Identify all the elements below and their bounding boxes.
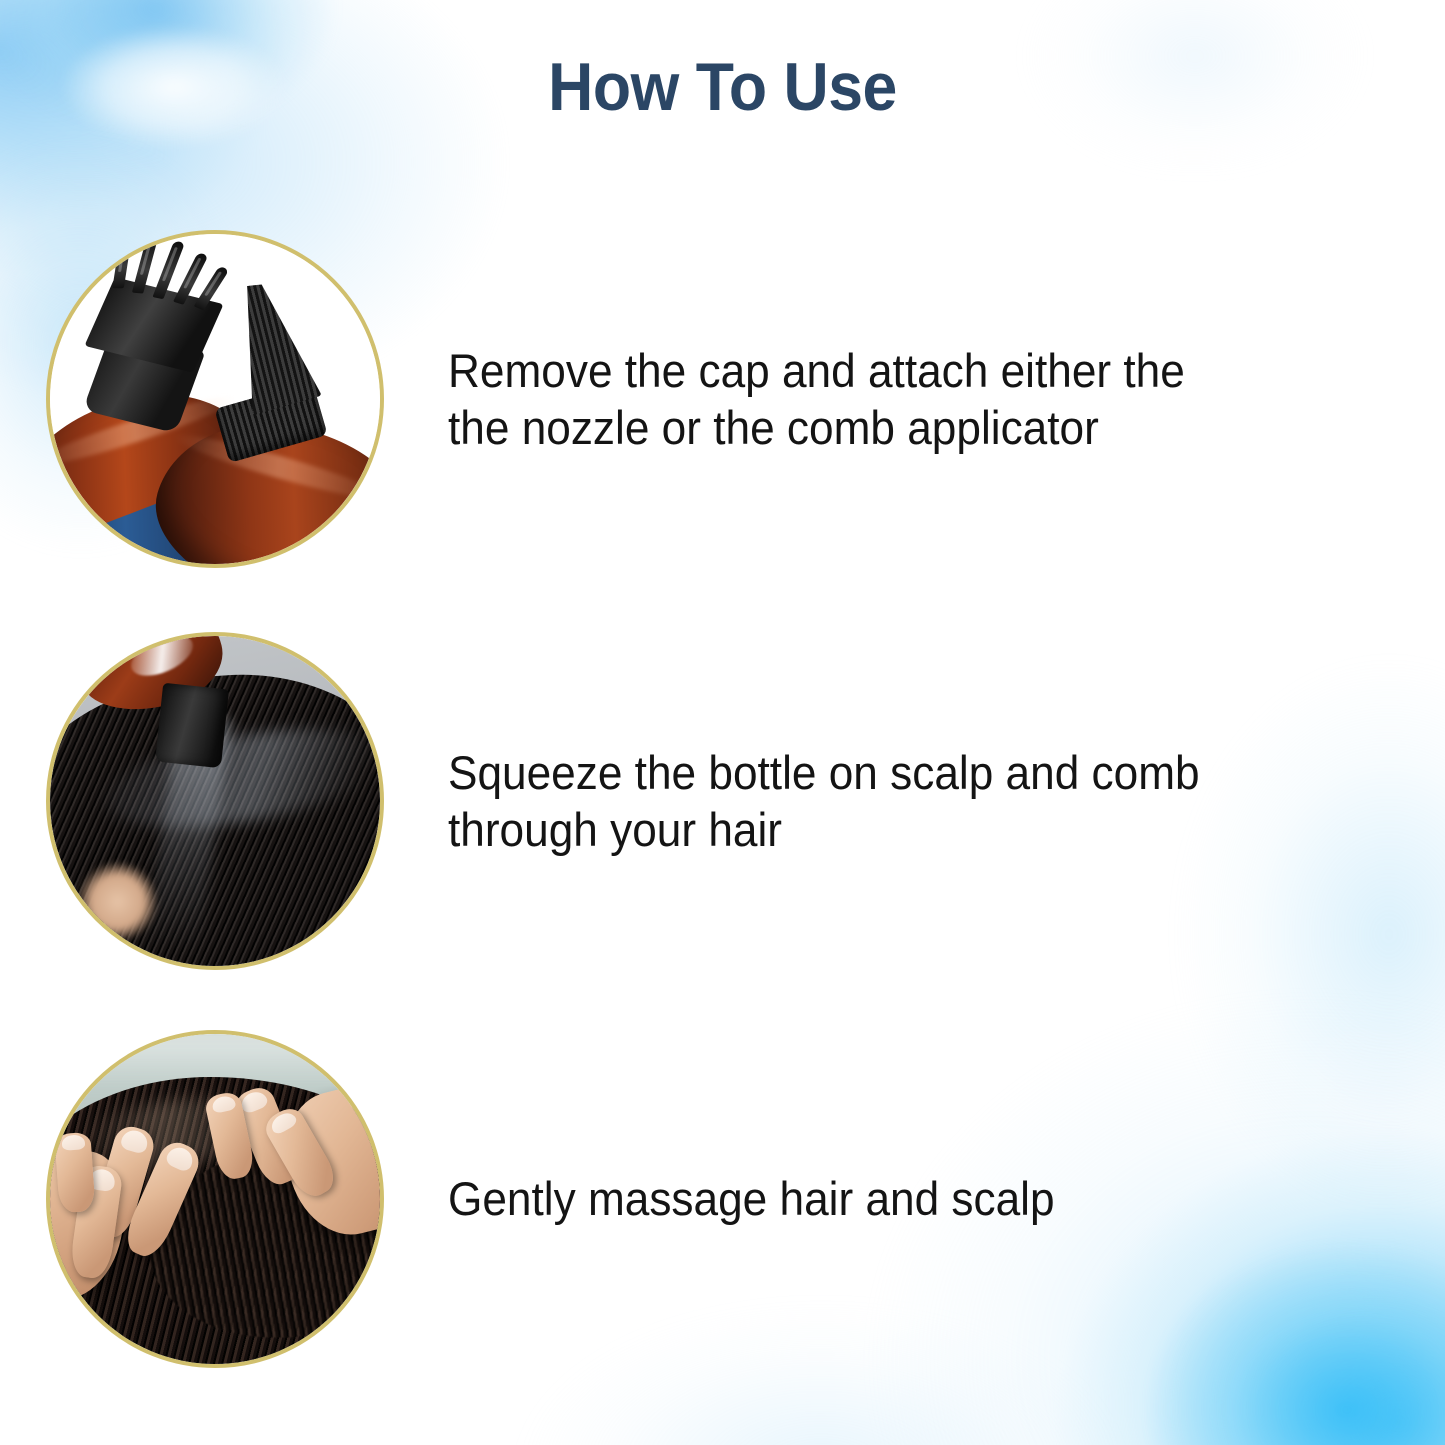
step-1-instruction: Remove the cap and attach either the the… bbox=[448, 342, 1301, 457]
fingernail bbox=[61, 1135, 86, 1151]
step-1-image-circle bbox=[46, 230, 384, 568]
fingernail bbox=[210, 1094, 237, 1114]
fingernail bbox=[239, 1088, 270, 1114]
page-title: How To Use bbox=[58, 48, 1387, 126]
step-item-3: Gently massage hair and scalp bbox=[0, 1030, 1445, 1368]
nozzle-applicator-tip bbox=[155, 682, 229, 768]
step-2-image-circle bbox=[46, 632, 384, 970]
step-item-1: Remove the cap and attach either the the… bbox=[0, 230, 1445, 568]
step-1-text-column: Remove the cap and attach either the the… bbox=[430, 342, 1445, 457]
step-item-2: Squeeze the bottle on scalp and comb thr… bbox=[0, 632, 1445, 970]
step-3-media bbox=[0, 1030, 430, 1368]
massaging-scalp-photo bbox=[50, 1034, 380, 1364]
applying-oil-to-scalp-photo bbox=[50, 636, 380, 966]
comb-and-nozzle-applicators-photo bbox=[50, 234, 380, 564]
step-2-media bbox=[0, 632, 430, 970]
forehead-skin bbox=[70, 860, 169, 959]
step-2-instruction: Squeeze the bottle on scalp and comb thr… bbox=[448, 744, 1301, 859]
how-to-use-infographic: How To Use bbox=[0, 0, 1445, 1445]
step-3-instruction: Gently massage hair and scalp bbox=[448, 1170, 1301, 1227]
fingernail bbox=[119, 1128, 150, 1155]
step-3-image-circle bbox=[46, 1030, 384, 1368]
step-2-text-column: Squeeze the bottle on scalp and comb thr… bbox=[430, 744, 1445, 859]
step-1-media bbox=[0, 230, 430, 568]
step-3-text-column: Gently massage hair and scalp bbox=[430, 1170, 1445, 1227]
left-hand-thumb bbox=[54, 1132, 96, 1214]
